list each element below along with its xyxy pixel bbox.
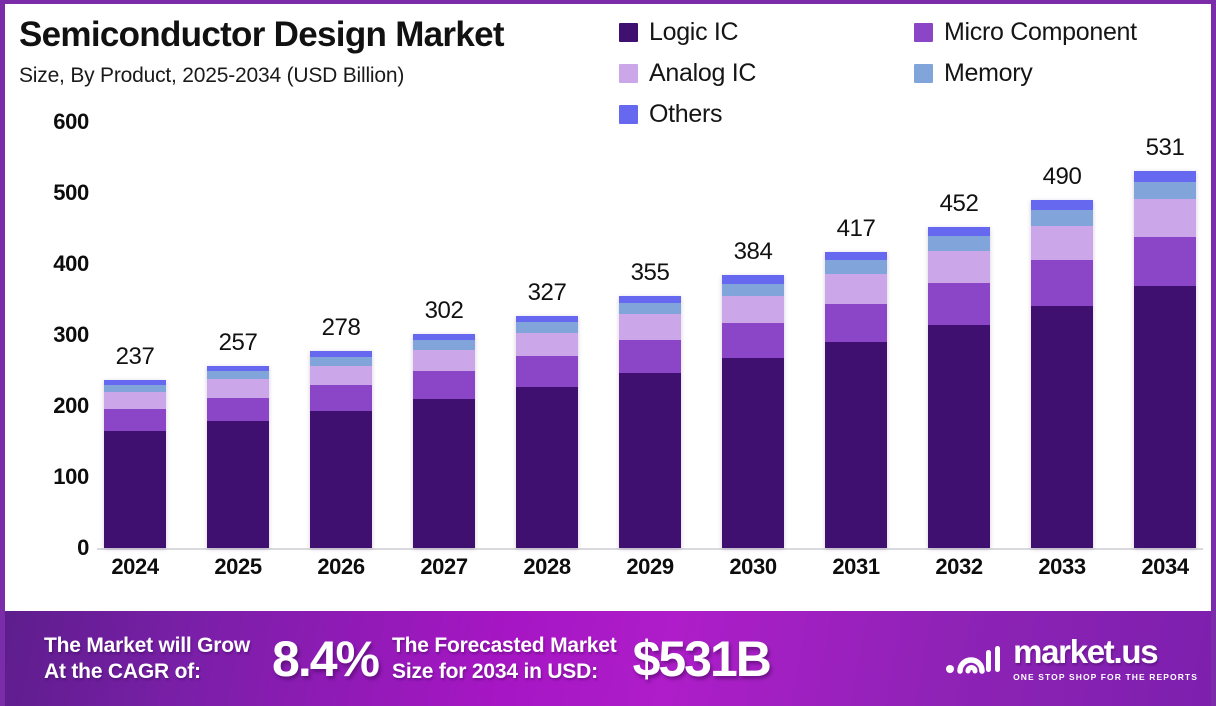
footer-banner: The Market will Grow At the CAGR of: 8.4… xyxy=(0,611,1216,706)
bar-segment-analog-ic[interactable] xyxy=(722,296,784,323)
bar-segment-logic-ic[interactable] xyxy=(1031,306,1093,548)
brand-text: market.us ONE STOP SHOP FOR THE REPORTS xyxy=(1013,635,1198,682)
bar-segment-memory[interactable] xyxy=(619,303,681,314)
bar-segment-analog-ic[interactable] xyxy=(413,350,475,371)
bar-segment-micro-component[interactable] xyxy=(928,283,990,325)
y-axis-tick-label: 300 xyxy=(53,322,89,348)
bar-segment-memory[interactable] xyxy=(207,371,269,379)
bar-value-label: 384 xyxy=(734,238,773,266)
cagr-caption: The Market will Grow At the CAGR of: xyxy=(44,633,250,684)
y-axis-tick-label: 600 xyxy=(53,109,89,135)
stacked-bar[interactable] xyxy=(310,351,372,548)
bar-segment-analog-ic[interactable] xyxy=(516,333,578,356)
legend-item-label: Memory xyxy=(944,59,1032,88)
x-axis-tick-label: 2024 xyxy=(104,554,166,594)
bar-group[interactable]: 327 xyxy=(516,122,578,548)
bar-segment-memory[interactable] xyxy=(1031,210,1093,226)
x-axis-tick-label: 2027 xyxy=(413,554,475,594)
stacked-bar[interactable] xyxy=(1031,200,1093,548)
bar-segment-memory[interactable] xyxy=(310,357,372,366)
stacked-bar[interactable] xyxy=(825,252,887,548)
bar-segment-memory[interactable] xyxy=(413,340,475,350)
y-axis-tick-label: 500 xyxy=(53,180,89,206)
stacked-bar[interactable] xyxy=(619,296,681,548)
y-axis-tick-label: 0 xyxy=(77,535,89,561)
bar-segment-memory[interactable] xyxy=(722,284,784,296)
bar-segment-analog-ic[interactable] xyxy=(104,392,166,409)
y-axis-tick-label: 100 xyxy=(53,464,89,490)
bar-value-label: 278 xyxy=(322,314,361,342)
bar-value-label: 452 xyxy=(940,190,979,218)
bar-segment-analog-ic[interactable] xyxy=(1134,199,1196,237)
bar-segment-logic-ic[interactable] xyxy=(1134,286,1196,548)
forecast-value: $531B xyxy=(633,630,770,688)
chart-header: Semiconductor Design Market Size, By Pro… xyxy=(5,4,1212,132)
stacked-bar[interactable] xyxy=(928,227,990,548)
cagr-caption-line1: The Market will Grow xyxy=(44,634,250,657)
bar-segment-logic-ic[interactable] xyxy=(516,387,578,548)
y-axis-tick-label: 400 xyxy=(53,251,89,277)
legend-item-logic-ic[interactable]: Logic IC xyxy=(619,12,914,53)
forecast-caption: The Forecasted Market Size for 2034 in U… xyxy=(392,633,617,684)
y-axis-tick-label: 200 xyxy=(53,393,89,419)
bar-segment-micro-component[interactable] xyxy=(104,409,166,431)
bar-group[interactable]: 417 xyxy=(825,122,887,548)
cagr-caption-line2: At the CAGR of: xyxy=(44,660,201,683)
x-axis: 2024202520262027202820292030203120322033… xyxy=(97,554,1203,594)
axis-baseline xyxy=(97,548,1203,550)
bar-segment-others[interactable] xyxy=(1134,171,1196,182)
bar-segment-analog-ic[interactable] xyxy=(1031,226,1093,261)
bar-segment-logic-ic[interactable] xyxy=(310,411,372,548)
bar-group[interactable]: 384 xyxy=(722,122,784,548)
bar-segment-micro-component[interactable] xyxy=(310,385,372,411)
bar-segment-analog-ic[interactable] xyxy=(928,251,990,283)
bar-value-label: 490 xyxy=(1043,163,1082,191)
bar-segment-logic-ic[interactable] xyxy=(207,421,269,548)
x-axis-tick-label: 2028 xyxy=(516,554,578,594)
bar-segment-memory[interactable] xyxy=(928,236,990,251)
stacked-bar[interactable] xyxy=(413,334,475,548)
bar-value-label: 327 xyxy=(528,279,567,307)
bar-group[interactable]: 302 xyxy=(413,122,475,548)
bar-segment-micro-component[interactable] xyxy=(207,398,269,421)
bar-segment-logic-ic[interactable] xyxy=(722,358,784,548)
bar-segment-micro-component[interactable] xyxy=(722,323,784,358)
bar-segment-logic-ic[interactable] xyxy=(825,342,887,548)
x-axis-tick-label: 2029 xyxy=(619,554,681,594)
bar-group[interactable]: 355 xyxy=(619,122,681,548)
bar-segment-micro-component[interactable] xyxy=(1031,260,1093,305)
x-axis-tick-label: 2034 xyxy=(1134,554,1196,594)
bar-segment-others[interactable] xyxy=(825,252,887,261)
brand-name: market.us xyxy=(1013,635,1198,668)
y-axis: 0100200300400500600 xyxy=(5,122,97,548)
bar-segment-others[interactable] xyxy=(722,275,784,284)
bar-segment-analog-ic[interactable] xyxy=(310,366,372,386)
bar-group[interactable]: 257 xyxy=(207,122,269,548)
bar-segment-analog-ic[interactable] xyxy=(825,274,887,304)
plot-area: 0100200300400500600 23725727830232735538… xyxy=(5,122,1212,604)
forecast-caption-line1: The Forecasted Market xyxy=(392,634,617,657)
bar-segment-memory[interactable] xyxy=(825,260,887,273)
stacked-bar[interactable] xyxy=(104,380,166,548)
cagr-value: 8.4% xyxy=(272,630,378,688)
chart-legend: Logic ICMicro ComponentAnalog ICMemoryOt… xyxy=(619,12,1209,135)
bar-segment-logic-ic[interactable] xyxy=(928,325,990,548)
bar-segment-others[interactable] xyxy=(928,227,990,236)
bar-group[interactable]: 490 xyxy=(1031,122,1093,548)
bar-segment-analog-ic[interactable] xyxy=(207,379,269,397)
legend-item-label: Micro Component xyxy=(944,18,1137,47)
legend-item-label: Logic IC xyxy=(649,18,738,47)
bar-group[interactable]: 531 xyxy=(1134,122,1196,548)
legend-item-micro-component[interactable]: Micro Component xyxy=(914,12,1209,53)
bar-segment-analog-ic[interactable] xyxy=(619,314,681,340)
legend-item-memory[interactable]: Memory xyxy=(914,53,1209,94)
legend-swatch-icon xyxy=(914,64,933,83)
brand-logo[interactable]: market.us ONE STOP SHOP FOR THE REPORTS xyxy=(945,635,1198,682)
stacked-bar[interactable] xyxy=(1134,171,1196,548)
x-axis-tick-label: 2032 xyxy=(928,554,990,594)
infographic-root: Semiconductor Design Market Size, By Pro… xyxy=(0,0,1216,706)
bar-value-label: 237 xyxy=(116,343,155,371)
x-axis-tick-label: 2031 xyxy=(825,554,887,594)
bar-segment-memory[interactable] xyxy=(516,322,578,333)
bar-segment-memory[interactable] xyxy=(1134,182,1196,199)
forecast-caption-line2: Size for 2034 in USD: xyxy=(392,660,598,683)
bar-group[interactable]: 278 xyxy=(310,122,372,548)
bar-group[interactable]: 452 xyxy=(928,122,990,548)
bar-segment-logic-ic[interactable] xyxy=(104,431,166,548)
bar-value-label: 355 xyxy=(631,259,670,287)
page-title: Semiconductor Design Market xyxy=(19,16,619,55)
chart-subtitle: Size, By Product, 2025-2034 (USD Billion… xyxy=(19,64,619,88)
x-axis-tick-label: 2030 xyxy=(722,554,784,594)
bar-value-label: 531 xyxy=(1146,134,1185,162)
stacked-bar[interactable] xyxy=(516,316,578,548)
market-us-logo-icon xyxy=(945,642,1003,676)
x-axis-tick-label: 2025 xyxy=(207,554,269,594)
x-axis-tick-label: 2033 xyxy=(1031,554,1093,594)
bar-value-label: 257 xyxy=(219,329,258,357)
bar-segment-logic-ic[interactable] xyxy=(413,399,475,548)
bar-segment-logic-ic[interactable] xyxy=(619,373,681,548)
bar-segment-micro-component[interactable] xyxy=(619,340,681,373)
bar-segment-micro-component[interactable] xyxy=(516,356,578,387)
legend-swatch-icon xyxy=(619,64,638,83)
bar-value-label: 302 xyxy=(425,297,464,325)
bar-value-label: 417 xyxy=(837,215,876,243)
bar-segment-others[interactable] xyxy=(619,296,681,303)
bar-segment-memory[interactable] xyxy=(104,385,166,392)
x-axis-tick-label: 2026 xyxy=(310,554,372,594)
legend-swatch-icon xyxy=(619,23,638,42)
legend-item-label: Analog IC xyxy=(649,59,756,88)
bar-segment-micro-component[interactable] xyxy=(413,371,475,399)
bar-segment-micro-component[interactable] xyxy=(825,304,887,342)
stacked-bar[interactable] xyxy=(207,366,269,548)
legend-swatch-icon xyxy=(914,23,933,42)
bar-segment-micro-component[interactable] xyxy=(1134,237,1196,286)
bar-group[interactable]: 237 xyxy=(104,122,166,548)
brand-tagline: ONE STOP SHOP FOR THE REPORTS xyxy=(1013,672,1198,682)
stacked-bar[interactable] xyxy=(722,275,784,548)
title-block: Semiconductor Design Market Size, By Pro… xyxy=(19,16,619,88)
legend-item-analog-ic[interactable]: Analog IC xyxy=(619,53,914,94)
bar-segment-others[interactable] xyxy=(1031,200,1093,210)
bar-series-container: 237257278302327355384417452490531 xyxy=(97,122,1203,548)
